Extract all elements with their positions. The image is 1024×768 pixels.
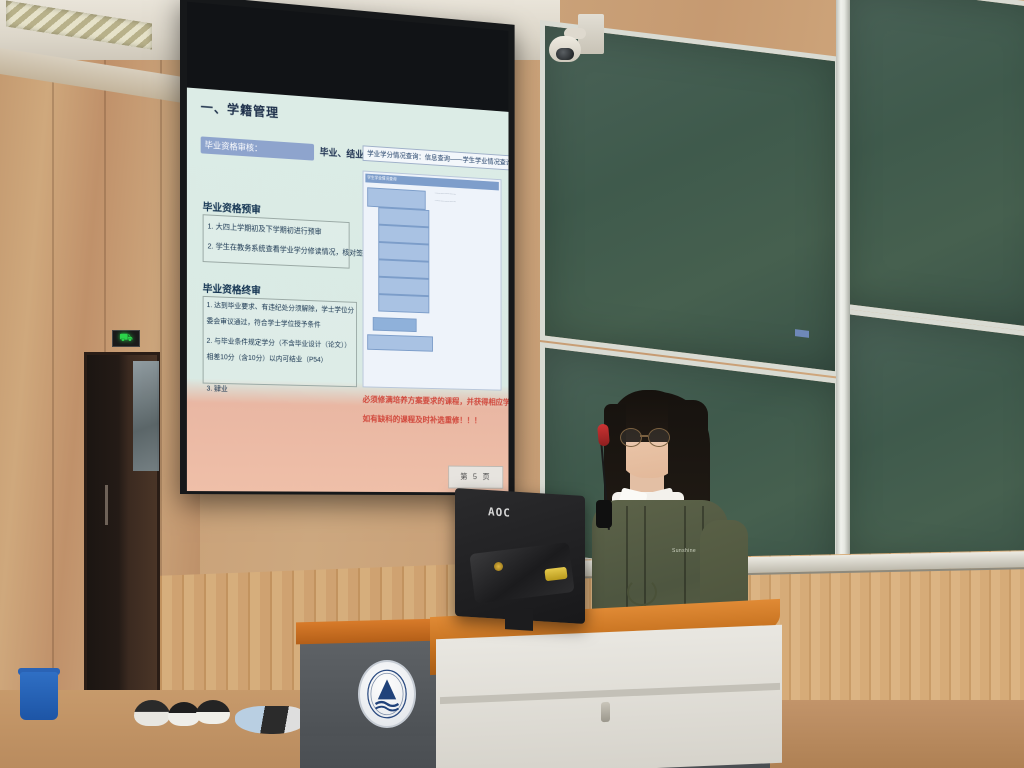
jacket-brand-text: Sunshine: [672, 548, 696, 554]
jacket-drawstring: [627, 578, 657, 606]
monitor-brand-label: AOC: [488, 505, 511, 519]
monitor-stand: [505, 607, 533, 631]
document-camera-knob[interactable]: [494, 562, 503, 571]
glasses-icon: [620, 428, 670, 445]
trash-bin: [20, 672, 58, 720]
projection-screen: 一、学籍管理 毕业资格审核： 毕业、结业、肄业 毕业资格预审 1. 大四上学期初…: [180, 0, 515, 495]
classroom-door[interactable]: [84, 352, 160, 712]
slide-red-note-line-1: 必须修满培养方案要求的课程，并获得相应学分，: [363, 393, 509, 410]
slide-subtitle-bar: 毕业资格审核：: [201, 136, 314, 160]
blackboard-slide-rail[interactable]: [836, 0, 850, 574]
door-window: [133, 361, 159, 471]
slide-subtitle-bar-text: 毕业资格审核：: [205, 139, 263, 155]
slide-surface: 一、学籍管理 毕业资格审核： 毕业、结业、肄业 毕业资格预审 1. 大四上学期初…: [187, 88, 509, 493]
slide-red-note-line-2: 如有缺科的课程及时补选重修！！！: [363, 412, 482, 427]
slide-panel-screenshot: 学生学业情况查询 ..................... .........…: [363, 171, 502, 391]
microphone-base: [596, 500, 612, 528]
slide-page-number: 第 5 页: [448, 466, 503, 489]
floor-item-shoe: [134, 700, 170, 726]
slide-section-2-item-5: 3. 肄业: [207, 385, 228, 396]
floor-item-cloth: [235, 706, 305, 734]
exit-running-man-icon: ⛟: [119, 333, 133, 344]
blackboard-panel: [838, 0, 1024, 334]
floor-item-shoe: [196, 700, 230, 724]
slide-section-1-heading: 毕业资格预审: [203, 198, 261, 216]
blackboard-panel: [838, 308, 1024, 584]
exit-sign: ⛟: [112, 330, 140, 347]
blackboard-panel: [540, 20, 840, 377]
microphone-icon: [597, 424, 610, 447]
door-handle[interactable]: [105, 485, 108, 525]
slide-title: 一、学籍管理: [201, 97, 279, 121]
camera-lens: [556, 48, 574, 60]
podium-university-emblem-icon: [358, 660, 416, 728]
lecture-hall-scene: ⛟ 一、学籍管理 毕业资格审核： 毕业、结业、肄业 毕业资格预审 1. 大四上学…: [0, 0, 1024, 768]
slide-panel-caption: 学业学分情况查询：信息查询——学生学业情况查询: [363, 145, 509, 170]
slide-section-2-heading: 毕业资格终审: [203, 280, 261, 297]
podium-lock[interactable]: [601, 702, 610, 722]
